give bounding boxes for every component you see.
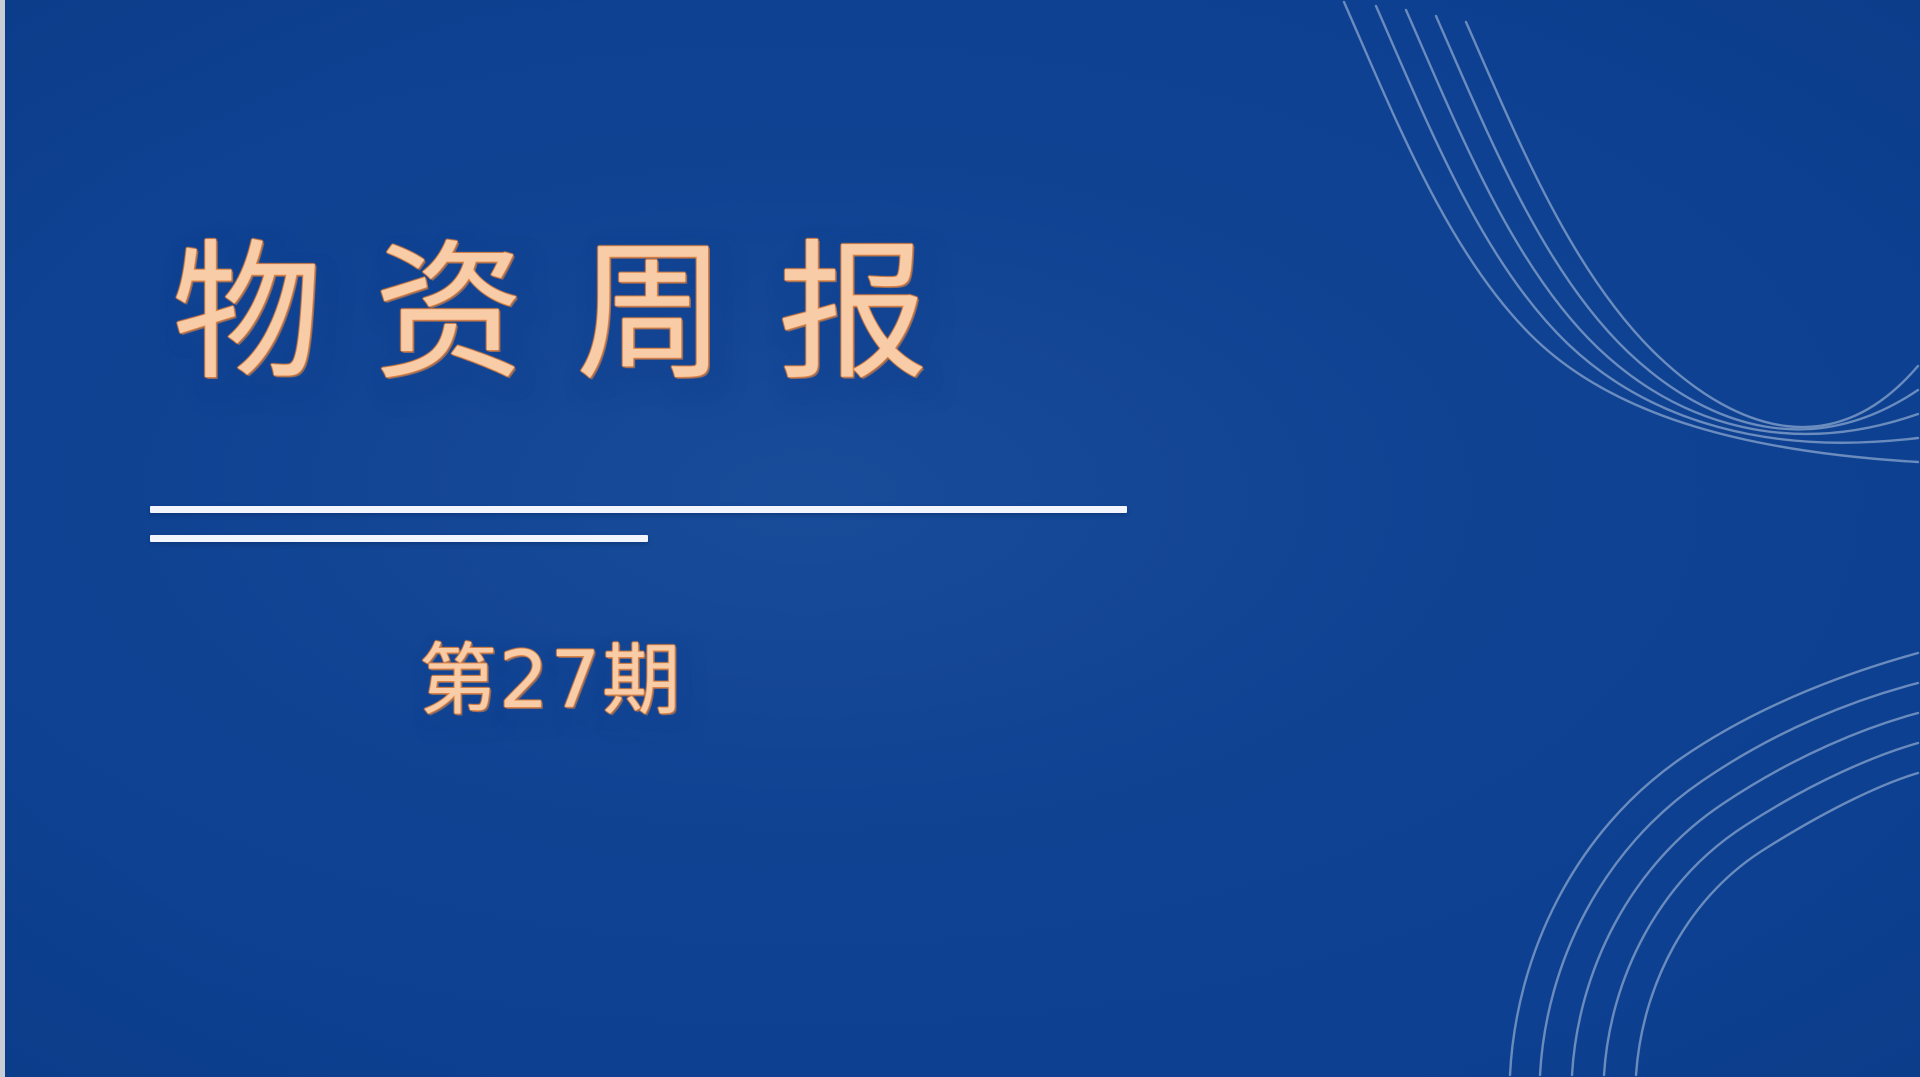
title-underline-short	[150, 535, 648, 542]
slide-title: 物资周报	[150, 236, 1250, 394]
title-block: 物资周报	[150, 236, 1250, 394]
presentation-slide: 物资周报 第27期	[0, 0, 1920, 1077]
left-edge-strip	[0, 0, 5, 1077]
title-underlines	[150, 506, 1250, 542]
slide-subtitle: 第27期	[150, 637, 1150, 727]
title-underline-long	[150, 506, 1127, 513]
